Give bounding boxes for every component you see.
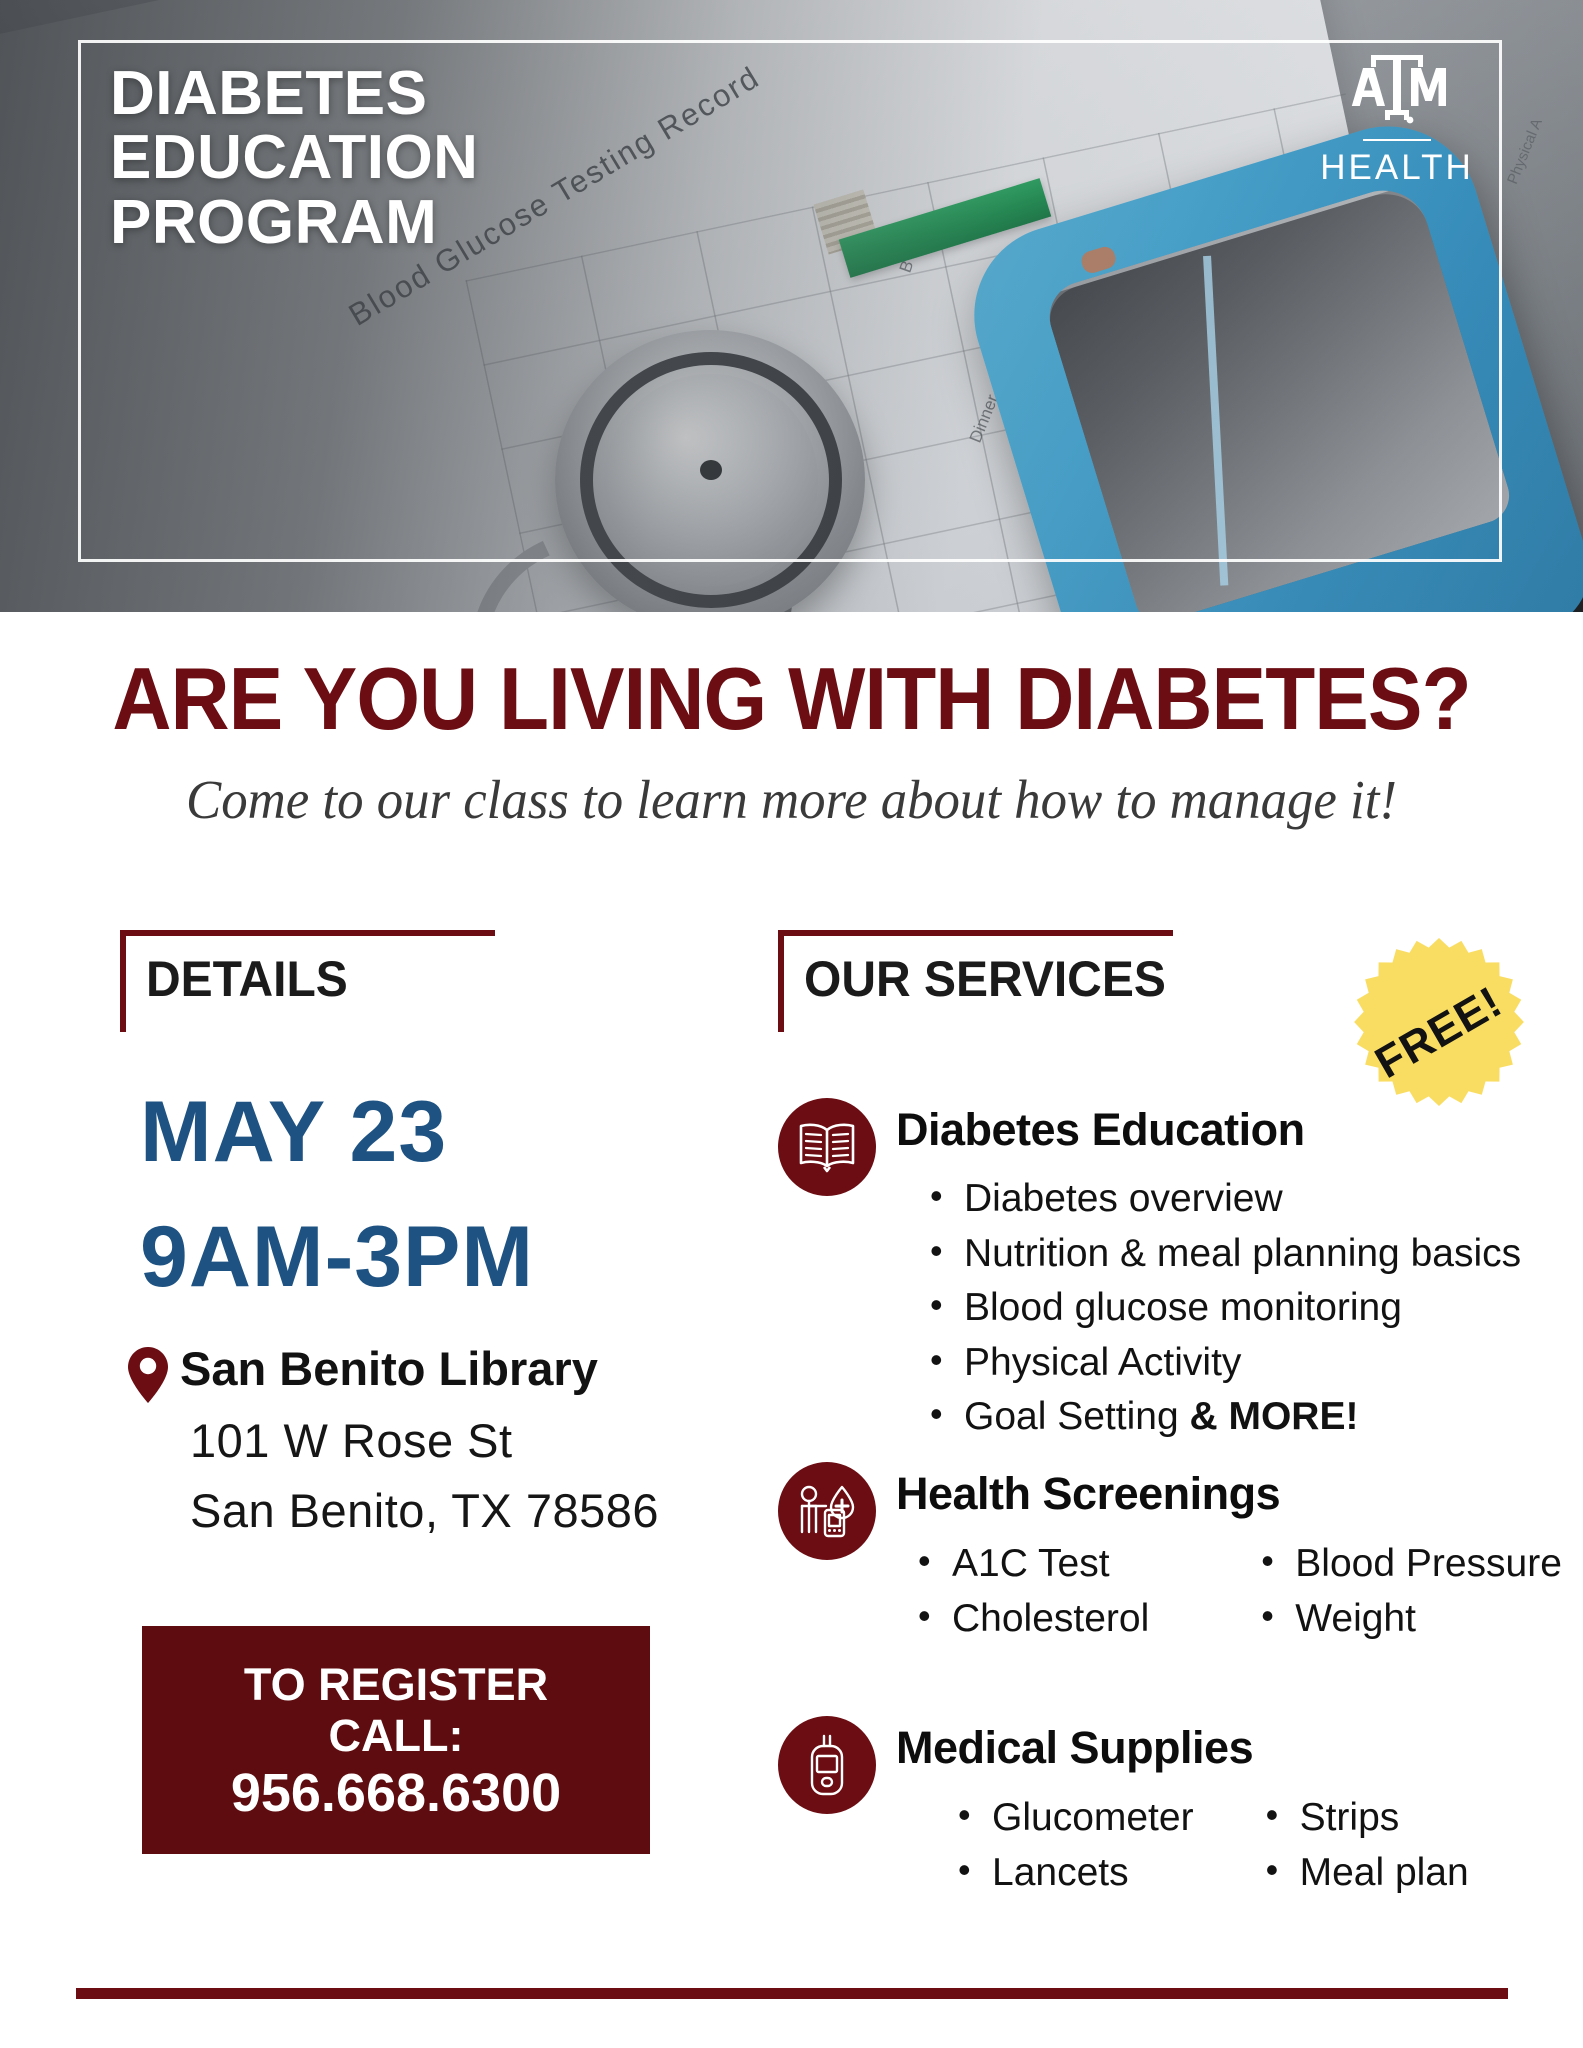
service-list-2-col-1: Glucometer Lancets: [956, 1790, 1194, 1901]
list-item: Blood glucose monitoring: [928, 1281, 1521, 1336]
list-item-emphasis: & MORE!: [1189, 1395, 1358, 1438]
list-item: Strips: [1264, 1790, 1469, 1845]
hero-title-line-1: DIABETES: [110, 62, 478, 126]
open-book-icon: [778, 1098, 876, 1196]
list-item: Meal plan: [1264, 1845, 1469, 1900]
flyer-page: Blood Glucose Testing Record Dinner B Ph…: [0, 0, 1583, 2048]
sub-headline: Come to our class to learn more about ho…: [32, 768, 1552, 831]
list-item: Glucometer: [956, 1790, 1194, 1845]
event-time: 9AM-3PM: [140, 1208, 534, 1307]
free-badge: FREE!: [1350, 938, 1528, 1128]
service-list-2-col-2: Strips Meal plan: [1264, 1790, 1469, 1901]
list-item-text: Goal Setting: [964, 1395, 1189, 1438]
register-label-line-1: TO REGISTER: [244, 1660, 548, 1711]
register-phone-number[interactable]: 956.668.6300: [231, 1762, 561, 1824]
location-pin-icon: [128, 1347, 168, 1403]
logo-divider: [1363, 139, 1431, 141]
logo-wordmark: HEALTH: [1307, 148, 1487, 188]
texas-am-logo-icon: [1341, 52, 1453, 130]
services-section-title: OUR SERVICES: [804, 950, 1166, 1008]
hero-banner: Blood Glucose Testing Record Dinner B Ph…: [0, 0, 1583, 612]
list-item: Goal Setting & MORE!: [928, 1390, 1521, 1445]
service-title-1: Health Screenings: [896, 1468, 1280, 1520]
glucometer-icon: [778, 1716, 876, 1814]
hero-title-line-2: EDUCATION: [110, 126, 478, 190]
list-item: Diabetes overview: [928, 1172, 1521, 1227]
hero-title-line-3: PROGRAM: [110, 191, 478, 255]
service-list-1: A1C Test Cholesterol Blood Pressure Weig…: [916, 1536, 1562, 1647]
details-section-title: DETAILS: [146, 950, 348, 1008]
details-section-header: DETAILS: [120, 930, 495, 1032]
address-line-2: San Benito, TX 78586: [190, 1483, 659, 1538]
venue-row: San Benito Library: [128, 1341, 598, 1403]
list-item: Lancets: [956, 1845, 1194, 1900]
list-item: Weight: [1259, 1591, 1562, 1646]
service-list-2: Glucometer Lancets Strips Meal plan: [956, 1790, 1469, 1901]
health-screening-icon: [778, 1462, 876, 1560]
main-headline: ARE YOU LIVING WITH DIABETES?: [55, 648, 1527, 750]
list-item: Cholesterol: [916, 1591, 1149, 1646]
register-callout-box[interactable]: TO REGISTER CALL: 956.668.6300: [142, 1626, 650, 1854]
register-label-line-2: CALL:: [329, 1711, 464, 1762]
list-item: A1C Test: [916, 1536, 1149, 1591]
footer-rule: [76, 1988, 1508, 1999]
service-list-1-col-1: A1C Test Cholesterol: [916, 1536, 1149, 1647]
venue-name: San Benito Library: [180, 1341, 598, 1396]
event-date: MAY 23: [140, 1083, 447, 1182]
list-item: Nutrition & meal planning basics: [928, 1227, 1521, 1282]
service-title-2: Medical Supplies: [896, 1722, 1253, 1774]
list-item: Blood Pressure: [1259, 1536, 1562, 1591]
service-title-0: Diabetes Education: [896, 1104, 1305, 1156]
services-section-header: OUR SERVICES: [778, 930, 1173, 1032]
service-list-0: Diabetes overview Nutrition & meal plann…: [928, 1172, 1521, 1445]
list-item: Physical Activity: [928, 1336, 1521, 1391]
service-list-1-col-2: Blood Pressure Weight: [1259, 1536, 1562, 1647]
address-line-1: 101 W Rose St: [190, 1413, 513, 1468]
hero-title: DIABETES EDUCATION PROGRAM: [110, 62, 478, 255]
texas-am-health-logo: HEALTH: [1307, 52, 1487, 188]
